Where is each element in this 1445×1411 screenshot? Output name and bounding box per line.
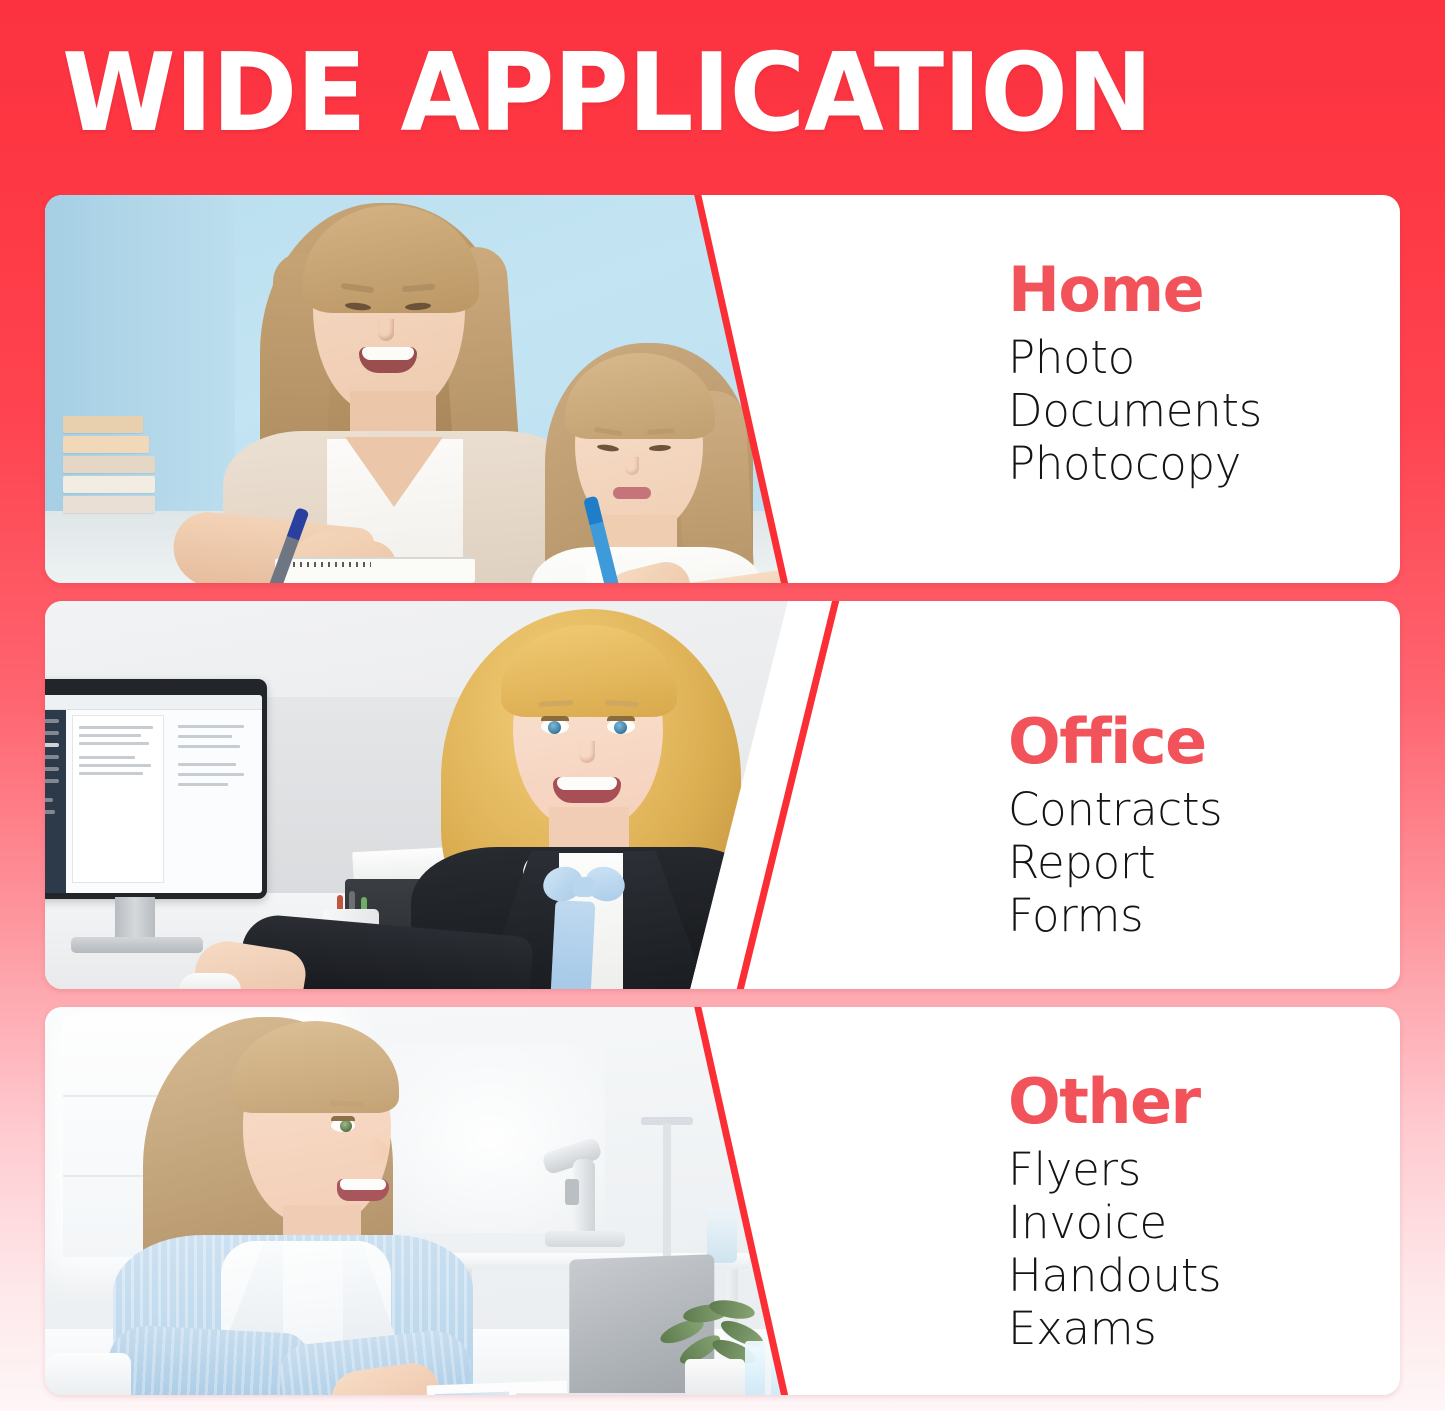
laboratory-scene [45,1007,845,1395]
blue-tie-tail [551,900,596,989]
lab-stand [663,1123,671,1263]
microscope-base [545,1231,625,1247]
card-photo-home [45,195,845,583]
screen-toolbar [45,695,262,710]
child-nose [625,457,639,475]
monitor-screen [45,695,262,893]
screen-sidebar [45,710,66,893]
lab-woman-arm-left [105,1324,309,1395]
card-text-other: Other Flyers Invoice Handouts Exams [963,1007,1400,1395]
list-item: Invoice [1008,1196,1400,1249]
adult-nose [378,319,394,341]
notebook-icon [275,557,475,583]
screen-text-column [172,715,250,883]
microscope-objective [565,1179,579,1205]
card-photo-office [45,601,845,989]
card-heading-home: Home [1008,255,1400,325]
office-desk-scene [45,601,845,989]
book-stack-icon [63,405,155,513]
lab-chair [45,1353,131,1395]
card-text-home: Home Photo Documents Photocopy [963,195,1400,583]
computer-mouse-icon [179,973,241,989]
list-item: Flyers [1008,1143,1400,1196]
card-heading-office: Office [1008,707,1400,777]
list-item: Photocopy [1008,437,1400,490]
test-tube-icon [745,1341,765,1395]
office-woman-smile [553,777,621,803]
application-card-office: Office Contracts Report Forms [45,601,1400,989]
list-item: Handouts [1008,1249,1400,1302]
office-woman-nose [579,741,595,763]
header-banner: WIDE APPLICATION [0,0,1445,172]
card-photo-other [45,1007,845,1395]
screen-document [72,715,164,883]
application-card-home: Home Photo Documents Photocopy [45,195,1400,583]
card-list-office: Contracts Report Forms [1008,783,1400,942]
child-mouth [613,487,651,499]
monitor-icon [45,679,267,899]
list-item: Contracts [1008,783,1400,836]
monitor-stand-neck [115,897,155,941]
card-heading-other: Other [1008,1067,1400,1137]
monitor-stand-base [71,937,203,953]
adult-smile [359,347,417,373]
lab-woman-eye [331,1119,355,1132]
adult-teeth [362,347,414,360]
application-card-other: Other Flyers Invoice Handouts Exams [45,1007,1400,1395]
page-title: WIDE APPLICATION [62,40,1152,148]
list-item: Photo [1008,331,1400,384]
lab-woman-smile [337,1179,389,1201]
office-woman-eye-left [541,719,569,734]
list-item: Documents [1008,384,1400,437]
card-list-other: Flyers Invoice Handouts Exams [1008,1143,1400,1355]
list-item: Forms [1008,889,1400,942]
blue-bow-tie [543,867,625,907]
home-tutoring-scene [45,195,845,583]
card-list-home: Photo Documents Photocopy [1008,331,1400,490]
plant-pot [685,1359,745,1395]
office-woman-eye-right [607,719,635,734]
list-item: Report [1008,836,1400,889]
card-text-office: Office Contracts Report Forms [963,601,1400,989]
test-tube-icon [797,1345,817,1395]
lab-bottle-icon [707,1207,737,1263]
list-item: Exams [1008,1302,1400,1355]
